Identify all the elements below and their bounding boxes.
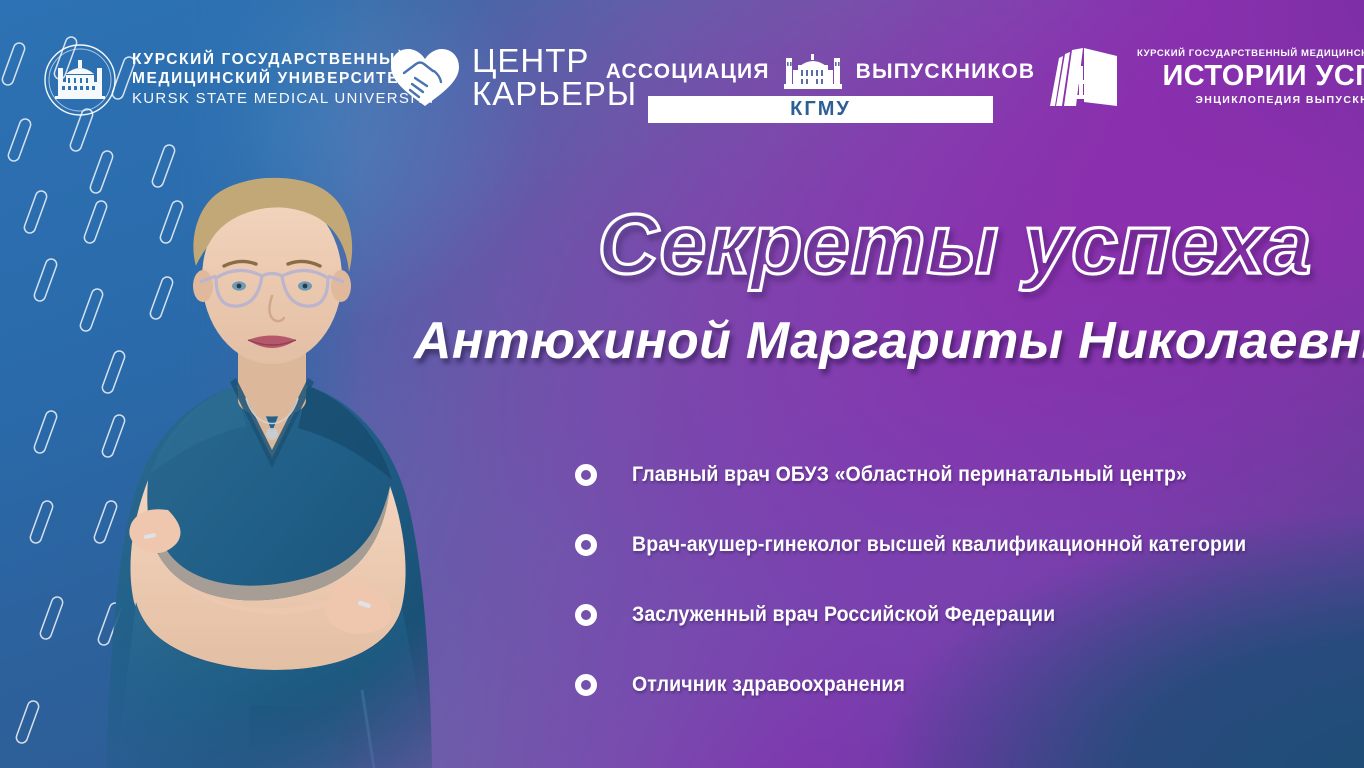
alumni-word-right: ВЫПУСКНИКОВ xyxy=(856,60,1036,84)
ring-bullet-icon xyxy=(575,464,597,486)
ring-bullet-icon xyxy=(575,534,597,556)
logo-bar: КУРСКИЙ ГОСУДАРСТВЕННЫЙ МЕДИЦИНСКИЙ УНИВ… xyxy=(0,0,1364,140)
heart-handshake-icon xyxy=(388,45,462,109)
success-stories-title: ИСТОРИИ УСПЕХА xyxy=(1137,60,1364,93)
list-item: Врач-акушер-гинеколог высшей квалификаци… xyxy=(566,510,1356,580)
page-title: Секреты успеха xyxy=(560,196,1350,292)
logo-alumni-association[interactable]: АССОЦИАЦИЯ xyxy=(648,52,993,123)
list-item: Отличник здравоохранения xyxy=(566,650,1356,720)
achievement-text: Главный врач ОБУЗ «Областной перинатальн… xyxy=(632,462,1187,488)
success-stories-eyebrow: КУРСКИЙ ГОСУДАРСТВЕННЫЙ МЕДИЦИНСКИЙ УНИВ… xyxy=(1137,48,1364,59)
alumni-association-bar: КГМУ xyxy=(648,96,993,123)
achievements-list: Главный врач ОБУЗ «Областной перинатальн… xyxy=(566,440,1356,720)
alumni-association-top-row: АССОЦИАЦИЯ xyxy=(648,52,993,92)
ring-bullet-icon xyxy=(575,674,597,696)
ring-bullet-icon xyxy=(575,604,597,626)
list-item: Заслуженный врач Российской Федерации xyxy=(566,580,1356,650)
list-item: Главный врач ОБУЗ «Областной перинатальн… xyxy=(566,440,1356,510)
alumni-bar-label: КГМУ xyxy=(790,98,851,121)
alumni-word-left: АССОЦИАЦИЯ xyxy=(606,60,770,84)
logo-success-stories[interactable]: КУРСКИЙ ГОСУДАРСТВЕННЫЙ МЕДИЦИНСКИЙ УНИВ… xyxy=(1043,40,1364,114)
logo-career-center[interactable]: ЦЕНТР КАРЬЕРЫ xyxy=(388,44,637,110)
achievement-text: Заслуженный врач Российской Федерации xyxy=(632,602,1055,628)
subject-name: Антюхиной Маргариты Николаевны xyxy=(414,310,1354,372)
university-seal-icon xyxy=(42,42,118,118)
portrait-photo xyxy=(40,150,510,768)
success-stories-text: КУРСКИЙ ГОСУДАРСТВЕННЫЙ МЕДИЦИНСКИЙ УНИВ… xyxy=(1137,48,1364,106)
achievement-text: Отличник здравоохранения xyxy=(632,672,905,698)
achievement-text: Врач-акушер-гинеколог высшей квалификаци… xyxy=(632,532,1246,558)
university-building-icon xyxy=(782,52,844,92)
logo-ksmu[interactable]: КУРСКИЙ ГОСУДАРСТВЕННЫЙ МЕДИЦИНСКИЙ УНИВ… xyxy=(42,42,437,118)
open-book-icon xyxy=(1043,40,1123,114)
success-story-poster: КУРСКИЙ ГОСУДАРСТВЕННЫЙ МЕДИЦИНСКИЙ УНИВ… xyxy=(0,0,1364,768)
success-stories-subtitle: ЭНЦИКЛОПЕДИЯ ВЫПУСКНИКОВ xyxy=(1137,94,1364,106)
